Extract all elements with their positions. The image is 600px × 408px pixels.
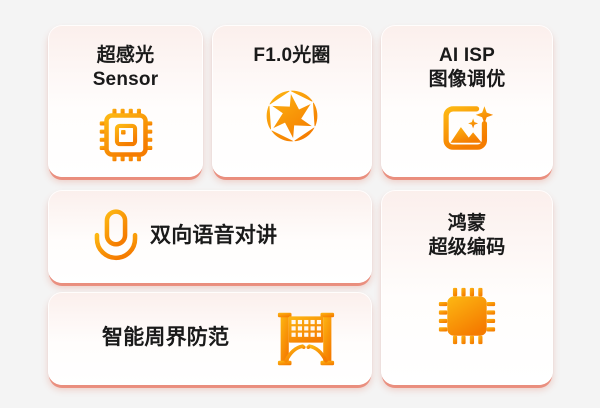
chip-outline-icon: [97, 106, 155, 164]
card-title: 鸿蒙 超级编码: [429, 212, 506, 260]
chip-solid-icon: [437, 286, 497, 346]
aperture-icon: [264, 88, 320, 144]
feature-grid: 超感光 Sensor: [0, 0, 600, 408]
feature-card-intercom[interactable]: 双向语音对讲: [48, 190, 372, 283]
feature-card-perimeter[interactable]: 智能周界防范: [48, 292, 372, 385]
image-sparkle-icon: [438, 101, 496, 155]
card-title: AI ISP 图像调优: [429, 44, 506, 92]
card-title: 超感光 Sensor: [93, 44, 159, 92]
card-title: 智能周界防范: [102, 325, 229, 351]
feature-card-sensor[interactable]: 超感光 Sensor: [48, 25, 203, 177]
fence-icon: [275, 310, 337, 368]
card-title: 双向语音对讲: [150, 223, 277, 249]
feature-card-ai-isp[interactable]: AI ISP 图像调优: [381, 25, 553, 177]
card-title: F1.0光圈: [253, 44, 330, 68]
microphone-icon: [90, 208, 142, 266]
feature-card-harmony-codec[interactable]: 鸿蒙 超级编码: [381, 190, 553, 385]
feature-card-aperture[interactable]: F1.0光圈: [212, 25, 372, 177]
